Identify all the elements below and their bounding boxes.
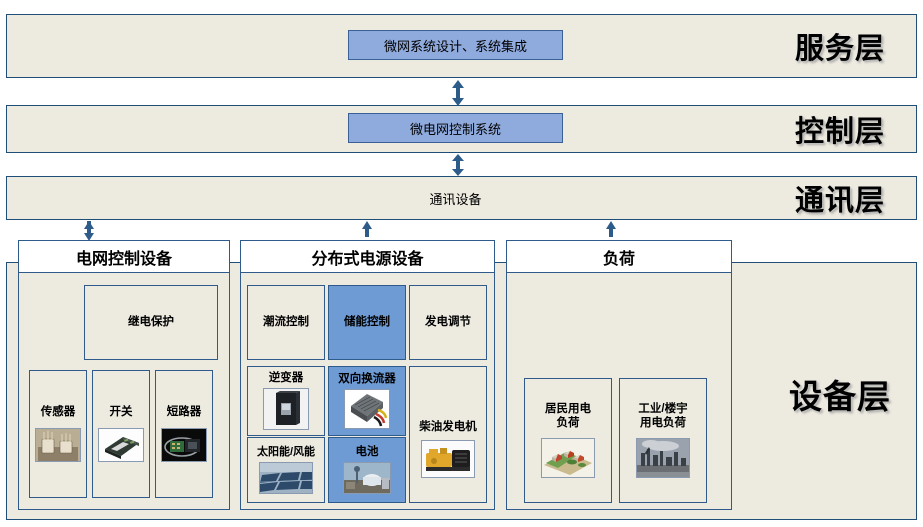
group-header-grid-control: 电网控制设备	[18, 240, 230, 273]
cell-label: 开关	[108, 406, 135, 420]
residential-photo-icon	[541, 438, 595, 478]
converter-photo-icon	[344, 389, 390, 429]
diesel-genset-photo-icon	[421, 440, 475, 478]
cell-diesel-generator[interactable]: 柴油发电机	[409, 366, 487, 503]
cell-label: 储能控制	[342, 316, 392, 330]
device-layer-title: 设备层	[775, 372, 905, 416]
cell-bidirectional-converter[interactable]: 双向换流器	[328, 366, 406, 436]
service-layer-callout-label: 微网系统设计、系统集成	[384, 36, 527, 55]
cell-inverter[interactable]: 逆变器	[247, 366, 325, 436]
sensor-photo-icon	[35, 428, 81, 462]
cell-solar-wind[interactable]: 太阳能/风能	[247, 437, 325, 503]
cell-label: 发电调节	[423, 316, 473, 330]
arrow-service-to-control	[450, 80, 466, 106]
arrow-comm-to-grid-control	[82, 221, 96, 241]
cell-label: 逆变器	[267, 372, 306, 386]
service-layer-title: 服务层	[780, 28, 900, 64]
cell-circuit-breaker[interactable]: 短路器	[155, 370, 213, 498]
cell-label-line1: 工业/楼宇	[636, 403, 689, 417]
cell-energy-storage-control[interactable]: 储能控制	[328, 285, 406, 360]
cell-battery[interactable]: 电池	[328, 437, 406, 503]
communication-layer-callout-label: 通讯设备	[348, 186, 563, 210]
control-layer-title: 控制层	[780, 111, 900, 147]
battery-plant-photo-icon	[343, 462, 391, 494]
cell-industrial-load[interactable]: 工业/楼宇 用电负荷	[619, 378, 707, 503]
cell-power-flow-control[interactable]: 潮流控制	[247, 285, 325, 360]
control-layer-callout-box[interactable]: 微电网控制系统	[348, 113, 563, 143]
cell-label: 电池	[354, 446, 381, 460]
industrial-photo-icon	[636, 438, 690, 478]
cell-label: 太阳能/风能	[255, 446, 317, 459]
cell-label: 双向换流器	[336, 373, 398, 387]
arrow-comm-to-distributed	[360, 221, 374, 241]
switch-photo-icon	[98, 428, 144, 462]
cell-label: 传感器	[39, 406, 78, 420]
cell-relay-protection[interactable]: 继电保护	[84, 285, 218, 360]
cell-label-line2: 负荷	[555, 417, 582, 431]
control-layer-callout-label: 微电网控制系统	[410, 119, 501, 138]
cell-label-line1: 居民用电	[543, 403, 593, 417]
service-layer-callout-box[interactable]: 微网系统设计、系统集成	[348, 30, 563, 60]
diagram-canvas: 微网系统设计、系统集成 服务层 微电网控制系统 控制层 通讯设备 通讯层	[0, 0, 923, 527]
cell-residential-load[interactable]: 居民用电 负荷	[524, 378, 612, 503]
group-header-load: 负荷	[506, 240, 732, 273]
cell-switch[interactable]: 开关	[92, 370, 150, 498]
cell-label-line2: 用电负荷	[638, 417, 688, 431]
arrow-control-to-communication	[450, 154, 466, 176]
solar-panel-photo-icon	[259, 462, 313, 494]
cell-label: 继电保护	[126, 316, 176, 330]
group-header-distributed-power: 分布式电源设备	[240, 240, 495, 273]
breaker-photo-icon	[161, 428, 207, 462]
cell-generation-regulation[interactable]: 发电调节	[409, 285, 487, 360]
cell-label: 潮流控制	[261, 316, 311, 330]
cell-sensor[interactable]: 传感器	[29, 370, 87, 498]
cell-label: 短路器	[165, 406, 204, 420]
inverter-photo-icon	[263, 388, 309, 430]
communication-layer-title: 通讯层	[780, 180, 900, 216]
arrow-comm-to-load	[604, 221, 618, 241]
cell-label: 柴油发电机	[417, 421, 479, 435]
